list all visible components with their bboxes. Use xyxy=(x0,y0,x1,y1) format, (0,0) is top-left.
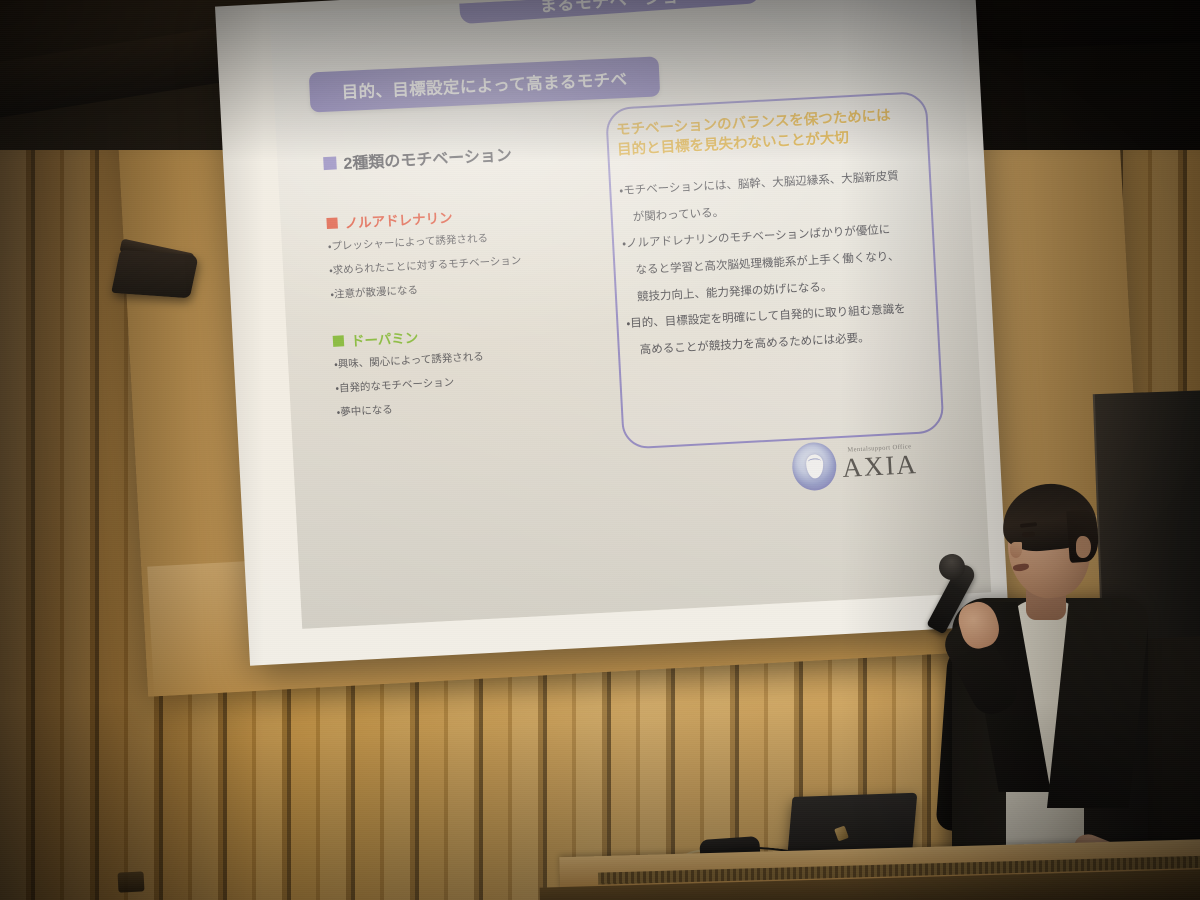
screenshot-root: まるモチベーショ 目的、目標設定によって高まるモチベ 2種類のモチベーション ノ… xyxy=(0,0,1200,900)
photo-vignette xyxy=(0,0,1200,900)
